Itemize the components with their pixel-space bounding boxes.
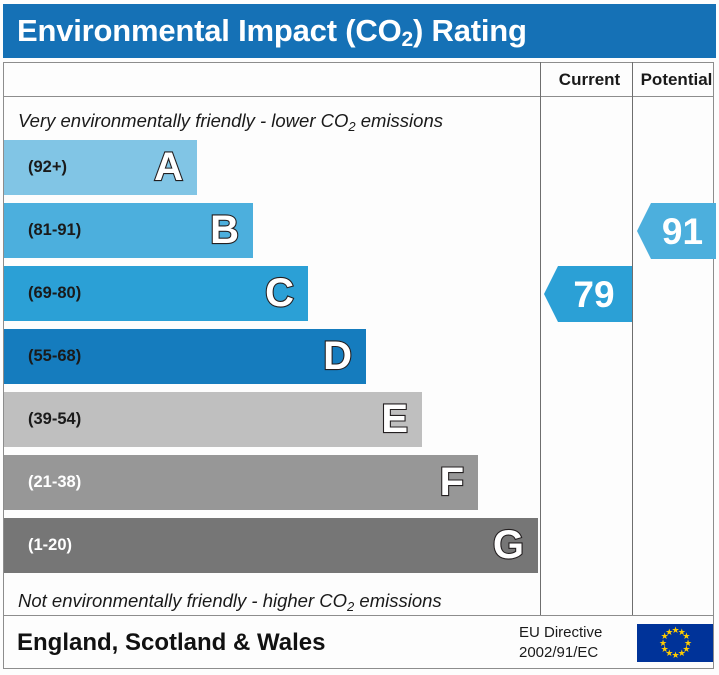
footer-directive-line2: 2002/91/EC <box>519 643 602 663</box>
page-title: Environmental Impact (CO2) Rating <box>3 13 527 49</box>
rating-arrow-potential: 91 <box>637 203 716 259</box>
rating-band-b: (81-91)B <box>4 203 253 258</box>
rating-value-current: 79 <box>561 276 614 313</box>
band-range-a: (92+) <box>4 158 67 177</box>
page-title-suffix: ) Rating <box>413 13 527 48</box>
footer-region-label: England, Scotland & Wales <box>17 629 325 657</box>
band-range-e: (39-54) <box>4 410 81 429</box>
chart-footer: England, Scotland & Wales EU Directive 2… <box>3 615 714 669</box>
rating-band-e: (39-54)E <box>4 392 422 447</box>
band-range-d: (55-68) <box>4 347 81 366</box>
rating-band-c: (69-80)C <box>4 266 308 321</box>
band-letter-b: B <box>210 210 239 250</box>
rating-arrow-current: 79 <box>544 266 632 322</box>
caption-top-prefix: Very environmentally friendly - lower CO <box>18 110 348 131</box>
page-title-prefix: Environmental Impact (CO <box>17 13 402 48</box>
caption-bottom-suffix: emissions <box>354 590 441 611</box>
rating-band-f: (21-38)F <box>4 455 478 510</box>
chart-title-bar: Environmental Impact (CO2) Rating <box>3 4 716 58</box>
band-letter-a: A <box>154 147 183 187</box>
footer-directive-label: EU Directive 2002/91/EC <box>519 622 602 663</box>
epc-environmental-impact-chart: Environmental Impact (CO2) Rating Curren… <box>0 0 719 675</box>
band-range-f: (21-38) <box>4 473 81 492</box>
caption-top-subscript: 2 <box>348 119 355 134</box>
footer-directive-line1: EU Directive <box>519 622 602 642</box>
column-divider-potential <box>632 62 633 615</box>
rating-value-potential: 91 <box>650 213 703 250</box>
band-letter-e: E <box>381 399 408 439</box>
caption-bottom-prefix: Not environmentally friendly - higher CO <box>18 590 347 611</box>
band-letter-d: D <box>323 336 352 376</box>
band-letter-c: C <box>265 273 294 313</box>
rating-bands: (92+)A(81-91)B(69-80)C(55-68)D(39-54)E(2… <box>4 140 540 583</box>
column-header-potential: Potential <box>636 62 717 97</box>
eu-flag-star: ★ <box>665 629 672 636</box>
caption-top: Very environmentally friendly - lower CO… <box>18 110 443 132</box>
column-header-row: Current Potential <box>3 62 714 97</box>
column-header-current: Current <box>544 62 635 97</box>
band-range-g: (1-20) <box>4 536 72 555</box>
eu-flag-icon: ★★★★★★★★★★★★ <box>637 624 713 662</box>
band-letter-f: F <box>440 462 464 502</box>
caption-top-suffix: emissions <box>356 110 443 131</box>
rating-band-g: (1-20)G <box>4 518 538 573</box>
caption-bottom: Not environmentally friendly - higher CO… <box>18 590 442 612</box>
band-letter-g: G <box>493 525 524 565</box>
rating-band-d: (55-68)D <box>4 329 366 384</box>
band-range-c: (69-80) <box>4 284 81 303</box>
band-range-b: (81-91) <box>4 221 81 240</box>
rating-band-a: (92+)A <box>4 140 197 195</box>
column-divider-current <box>540 62 541 615</box>
page-title-subscript: 2 <box>402 28 413 51</box>
header-divider-line <box>3 96 714 97</box>
caption-bottom-subscript: 2 <box>347 599 354 614</box>
